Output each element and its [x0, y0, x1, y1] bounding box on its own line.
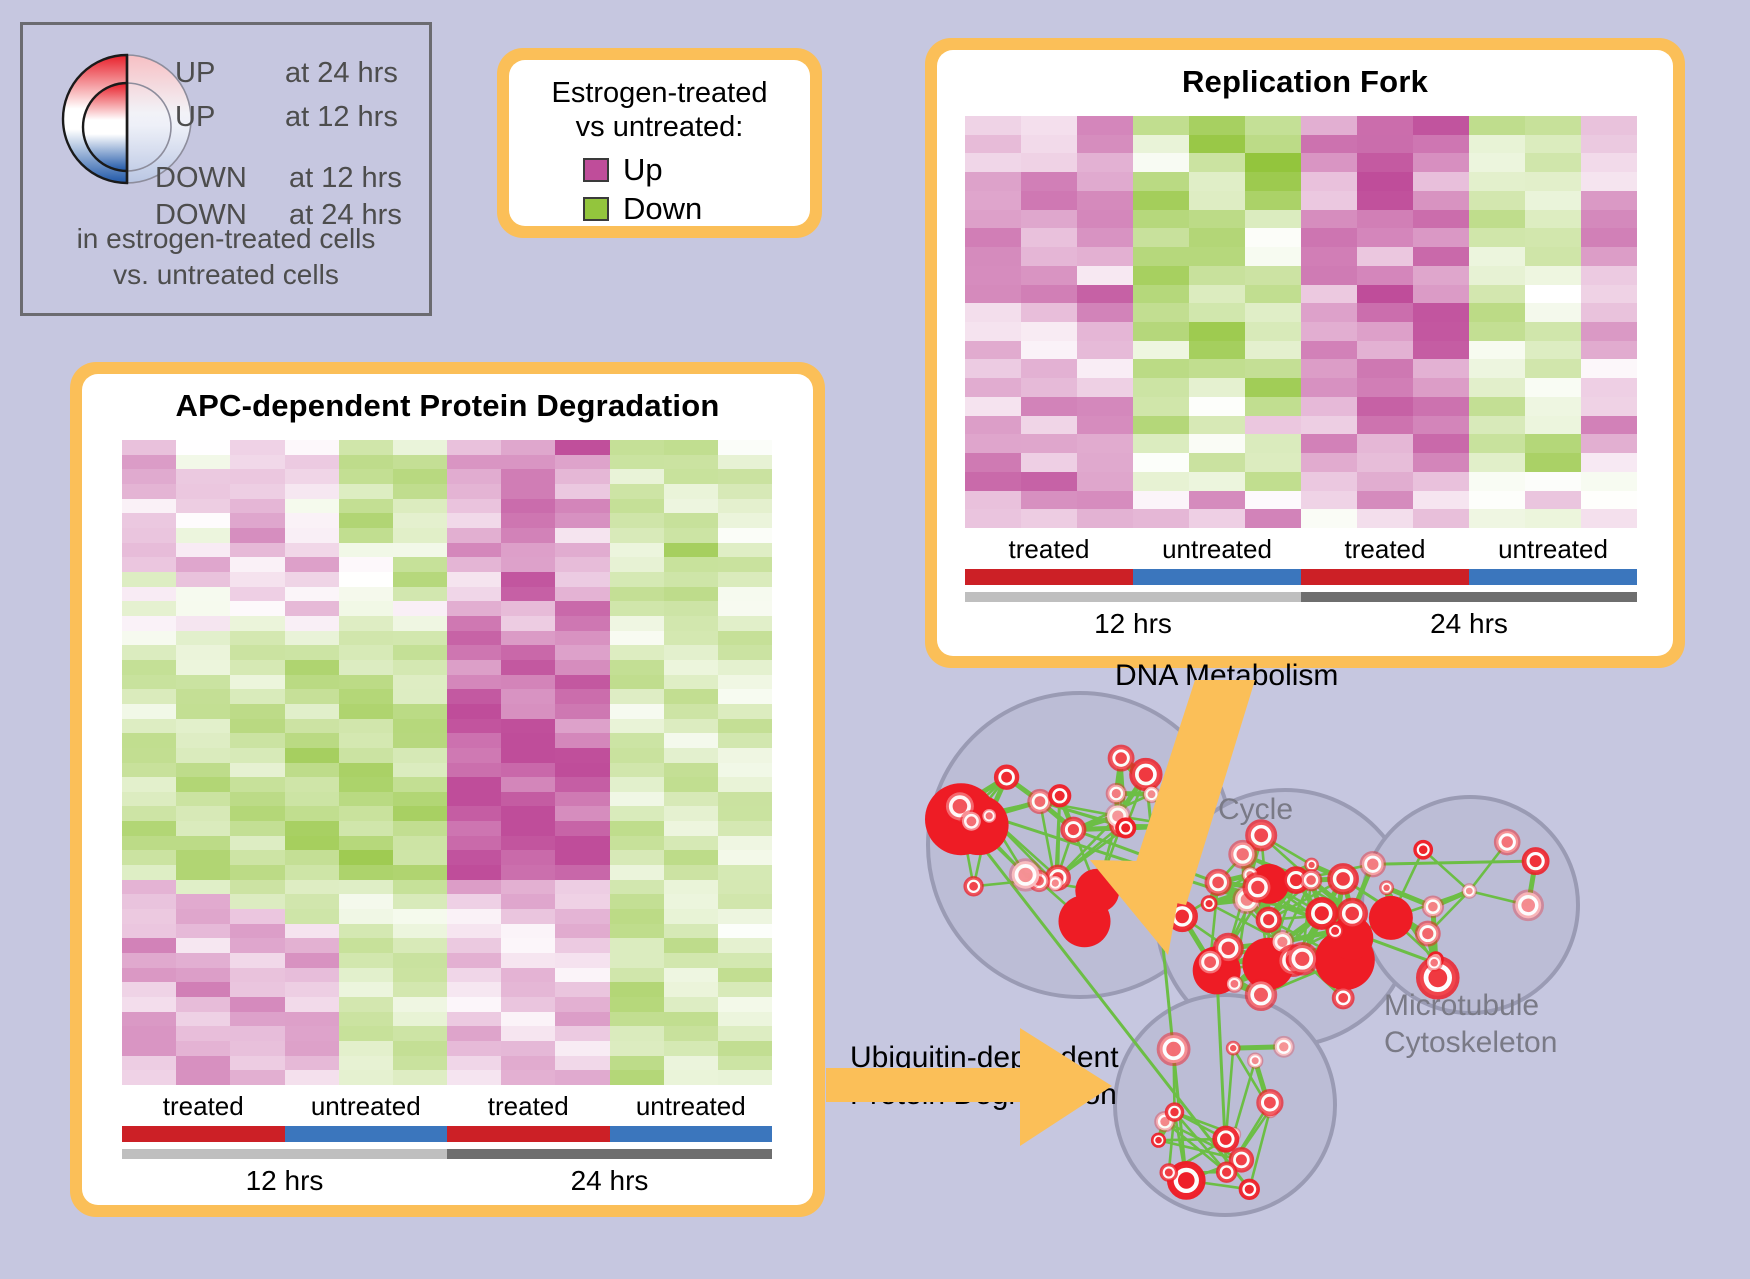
heatmap-cell [1581, 453, 1637, 472]
heatmap-cell [1245, 322, 1301, 341]
heatmap-cell [610, 836, 664, 851]
heatmap-cell [1525, 191, 1581, 210]
heatmap-cell [1357, 172, 1413, 191]
heatmap-cell [447, 543, 501, 558]
heatmap-cell [718, 645, 772, 660]
heatmap-cell [664, 543, 718, 558]
estrogen-legend-title: Estrogen-treated vs untreated: [519, 76, 800, 144]
heatmap-cell [447, 792, 501, 807]
heatmap-cell [610, 909, 664, 924]
heatmap-cell [230, 543, 284, 558]
network-node[interactable] [1075, 869, 1119, 913]
heatmap-cell [501, 587, 555, 602]
heatmap-cell [501, 499, 555, 514]
heatmap-cell [610, 601, 664, 616]
heatmap-cell [718, 1026, 772, 1041]
heatmap-cell [610, 557, 664, 572]
heatmap-cell [1357, 472, 1413, 491]
heatmap-cell [122, 543, 176, 558]
heatmap-cell [718, 982, 772, 997]
heatmap-cell [285, 792, 339, 807]
heatmap-cell [1077, 285, 1133, 304]
network-node-core [1220, 1133, 1232, 1145]
heatmap-cell [122, 894, 176, 909]
apc-degradation-heatmap [122, 440, 772, 1085]
heatmap-cell [664, 880, 718, 895]
heatmap-cell [555, 528, 609, 543]
heatmap-cell [664, 616, 718, 631]
heatmap-cell [176, 997, 230, 1012]
heatmap-cell [339, 572, 393, 587]
heatmap-cell [230, 792, 284, 807]
heatmap-cell [965, 416, 1021, 435]
heatmap-cell [230, 968, 284, 983]
heatmap-cell [1469, 303, 1525, 322]
heatmap-cell [1021, 491, 1077, 510]
heatmap-cell [501, 806, 555, 821]
heatmap-cell [176, 909, 230, 924]
heatmap-cell [230, 806, 284, 821]
heatmap-cell [1245, 509, 1301, 528]
heatmap-cell [339, 631, 393, 646]
heatmap-cell [965, 116, 1021, 135]
apc-label-treated-24: treated [447, 1091, 610, 1122]
heatmap-cell [447, 924, 501, 939]
heatmap-cell [1413, 135, 1469, 154]
network-node-core [1530, 855, 1542, 867]
heatmap-cell [1581, 247, 1637, 266]
heatmap-cell [1581, 378, 1637, 397]
heatmap-cell [501, 821, 555, 836]
heatmap-cell [555, 850, 609, 865]
network-label-ubiquitin: Ubiquitin-dependent Protein Degradation [850, 1040, 1119, 1113]
heatmap-cell [555, 953, 609, 968]
heatmap-cell [176, 601, 230, 616]
heatmap-cell [1469, 322, 1525, 341]
heatmap-cell [718, 484, 772, 499]
heatmap-cell [122, 557, 176, 572]
heatmap-cell [610, 953, 664, 968]
heatmap-cell [1077, 247, 1133, 266]
heatmap-cell [610, 924, 664, 939]
heatmap-cell [965, 359, 1021, 378]
heatmap-cell [1189, 228, 1245, 247]
heatmap-cell [1357, 453, 1413, 472]
heatmap-cell [555, 1041, 609, 1056]
rf-bar-treated-12 [965, 569, 1133, 585]
heatmap-cell [501, 455, 555, 470]
heatmap-cell [122, 821, 176, 836]
heatmap-cell [610, 1070, 664, 1085]
heatmap-cell [285, 689, 339, 704]
heatmap-cell [285, 850, 339, 865]
network-node[interactable] [1369, 896, 1413, 940]
heatmap-cell [1581, 341, 1637, 360]
heatmap-cell [1525, 322, 1581, 341]
heatmap-cell [230, 469, 284, 484]
network-node-core [1383, 885, 1389, 891]
heatmap-cell [501, 924, 555, 939]
heatmap-cell [1413, 453, 1469, 472]
heatmap-cell [447, 704, 501, 719]
heatmap-cell [230, 763, 284, 778]
heatmap-cell [176, 806, 230, 821]
heatmap-cell [285, 601, 339, 616]
heatmap-cell [285, 894, 339, 909]
heatmap-cell [1357, 491, 1413, 510]
heatmap-cell [1077, 210, 1133, 229]
replication-fork-footer: treated untreated treated untreated 12 h [965, 534, 1637, 640]
heatmap-cell [122, 733, 176, 748]
heatmap-cell [1245, 135, 1301, 154]
heatmap-cell [393, 1012, 447, 1027]
heatmap-cell [285, 719, 339, 734]
heatmap-cell [447, 440, 501, 455]
heatmap-cell [1413, 509, 1469, 528]
network-label-microtubule: Microtubule Cytoskeleton [1384, 988, 1557, 1061]
heatmap-cell [122, 806, 176, 821]
heatmap-cell [1133, 210, 1189, 229]
heatmap-cell [965, 285, 1021, 304]
heatmap-cell [555, 1070, 609, 1085]
heatmap-cell [501, 719, 555, 734]
network-node-core [1001, 772, 1012, 783]
heatmap-cell [1189, 153, 1245, 172]
heatmap-cell [610, 777, 664, 792]
heatmap-cell [176, 543, 230, 558]
heatmap-cell [501, 1056, 555, 1071]
heatmap-cell [718, 631, 772, 646]
heatmap-cell [1077, 303, 1133, 322]
heatmap-cell [1189, 116, 1245, 135]
heatmap-cell [501, 704, 555, 719]
heatmap-cell [610, 733, 664, 748]
heatmap-cell [1133, 416, 1189, 435]
heatmap-cell [447, 616, 501, 631]
heatmap-cell [664, 792, 718, 807]
heatmap-cell [555, 982, 609, 997]
heatmap-cell [1469, 397, 1525, 416]
heatmap-cell [1525, 266, 1581, 285]
heatmap-cell [1245, 472, 1301, 491]
heatmap-cell [555, 513, 609, 528]
heatmap-cell [1189, 397, 1245, 416]
heatmap-cell [393, 997, 447, 1012]
heatmap-cell [1581, 359, 1637, 378]
heatmap-cell [1301, 135, 1357, 154]
heatmap-cell [393, 733, 447, 748]
rf-time-labels: 12 hrs 24 hrs [965, 608, 1637, 640]
heatmap-cell [176, 792, 230, 807]
heatmap-cell [1245, 397, 1301, 416]
heatmap-cell [501, 616, 555, 631]
heatmap-cell [285, 982, 339, 997]
network-node-core [1245, 1185, 1254, 1194]
heatmap-cell [1133, 266, 1189, 285]
heatmap-cell [965, 341, 1021, 360]
heatmap-cell [1301, 378, 1357, 397]
heatmap-cell [176, 631, 230, 646]
heatmap-cell [718, 733, 772, 748]
heatmap-cell [610, 968, 664, 983]
heatmap-cell [1469, 266, 1525, 285]
network-node-core [1206, 900, 1213, 907]
heatmap-cell [664, 1056, 718, 1071]
heatmap-cell [1245, 359, 1301, 378]
heatmap-cell [230, 499, 284, 514]
heatmap-cell [1077, 322, 1133, 341]
heatmap-cell [122, 675, 176, 690]
heatmap-cell [501, 836, 555, 851]
heatmap-cell [122, 499, 176, 514]
heatmap-cell [122, 982, 176, 997]
apc-degradation-title: APC-dependent Protein Degradation [82, 374, 813, 424]
heatmap-cell [1077, 416, 1133, 435]
legend-item-up: Up [583, 152, 800, 188]
heatmap-cell [447, 645, 501, 660]
heatmap-cell [1133, 285, 1189, 304]
heatmap-cell [176, 953, 230, 968]
replication-fork-title: Replication Fork [937, 50, 1673, 100]
heatmap-cell [393, 748, 447, 763]
heatmap-cell [1581, 266, 1637, 285]
heatmap-cell [1357, 303, 1413, 322]
legend-footer-line-1: in estrogen-treated cells [23, 221, 429, 257]
heatmap-cell [718, 616, 772, 631]
heatmap-cell [718, 587, 772, 602]
heatmap-cell [555, 763, 609, 778]
heatmap-cell [664, 997, 718, 1012]
heatmap-cell [1245, 116, 1301, 135]
heatmap-cell [447, 806, 501, 821]
heatmap-cell [339, 484, 393, 499]
heatmap-cell [176, 938, 230, 953]
network-node-core [1035, 796, 1046, 807]
heatmap-cell [610, 938, 664, 953]
heatmap-cell [122, 601, 176, 616]
heatmap-cell [555, 924, 609, 939]
heatmap-cell [393, 806, 447, 821]
heatmap-cell [122, 616, 176, 631]
heatmap-cell [1469, 116, 1525, 135]
heatmap-cell [1413, 359, 1469, 378]
heatmap-cell [393, 440, 447, 455]
heatmap-cell [1525, 434, 1581, 453]
heatmap-cell [1357, 210, 1413, 229]
heatmap-cell [501, 645, 555, 660]
rf-bar-untreated-24 [1469, 569, 1637, 585]
heatmap-cell [285, 557, 339, 572]
heatmap-cell [664, 806, 718, 821]
heatmap-cell [1525, 228, 1581, 247]
network-node-core [1237, 848, 1249, 860]
heatmap-cell [447, 513, 501, 528]
heatmap-cell [718, 455, 772, 470]
heatmap-cell [447, 499, 501, 514]
heatmap-cell [230, 997, 284, 1012]
heatmap-cell [230, 675, 284, 690]
heatmap-cell [1413, 247, 1469, 266]
heatmap-cell [122, 572, 176, 587]
heatmap-cell [555, 748, 609, 763]
heatmap-cell [176, 1041, 230, 1056]
heatmap-cell [230, 880, 284, 895]
estrogen-legend-panel: Estrogen-treated vs untreated: Up Down [497, 48, 822, 238]
heatmap-cell [1413, 172, 1469, 191]
network-node-core [1254, 828, 1268, 842]
heatmap-cell [501, 968, 555, 983]
heatmap-cell [122, 865, 176, 880]
heatmap-cell [718, 572, 772, 587]
heatmap-cell [122, 440, 176, 455]
apc-time-labels: 12 hrs 24 hrs [122, 1165, 772, 1197]
heatmap-cell [285, 748, 339, 763]
network-node-core [953, 799, 968, 814]
heatmap-cell [447, 836, 501, 851]
heatmap-cell [1021, 153, 1077, 172]
heatmap-cell [285, 543, 339, 558]
heatmap-cell [447, 850, 501, 865]
heatmap-cell [447, 631, 501, 646]
heatmap-cell [1133, 472, 1189, 491]
heatmap-cell [501, 880, 555, 895]
heatmap-cell [285, 777, 339, 792]
heatmap-cell [1301, 341, 1357, 360]
heatmap-cell [285, 528, 339, 543]
heatmap-cell [1525, 378, 1581, 397]
heatmap-cell [447, 880, 501, 895]
heatmap-cell [122, 1012, 176, 1027]
rf-bar-untreated-12 [1133, 569, 1301, 585]
heatmap-cell [1189, 172, 1245, 191]
heatmap-cell [1413, 153, 1469, 172]
heatmap-cell [610, 997, 664, 1012]
heatmap-cell [1021, 378, 1077, 397]
network-node-core [1279, 1042, 1288, 1051]
heatmap-cell [664, 909, 718, 924]
heatmap-cell [664, 704, 718, 719]
heatmap-cell [1469, 153, 1525, 172]
heatmap-cell [1469, 378, 1525, 397]
heatmap-cell [1357, 116, 1413, 135]
heatmap-cell [555, 777, 609, 792]
heatmap-cell [339, 616, 393, 631]
heatmap-cell [610, 865, 664, 880]
heatmap-cell [122, 1041, 176, 1056]
heatmap-cell [610, 704, 664, 719]
network-node-core [1212, 877, 1224, 889]
heatmap-cell [122, 836, 176, 851]
heatmap-cell [176, 645, 230, 660]
heatmap-cell [1189, 191, 1245, 210]
heatmap-cell [664, 982, 718, 997]
heatmap-cell [1021, 116, 1077, 135]
heatmap-cell [1245, 303, 1301, 322]
heatmap-cell [285, 513, 339, 528]
heatmap-cell [339, 557, 393, 572]
apc-bar-untreated-24 [610, 1126, 773, 1142]
heatmap-cell [718, 894, 772, 909]
heatmap-cell [1021, 322, 1077, 341]
network-node-core [1315, 906, 1329, 920]
heatmap-cell [176, 865, 230, 880]
heatmap-cell [965, 303, 1021, 322]
heatmap-cell [501, 894, 555, 909]
heatmap-cell [1301, 191, 1357, 210]
heatmap-cell [393, 660, 447, 675]
legend-at-24-top: at 24 hrs [285, 57, 398, 90]
heatmap-cell [122, 1056, 176, 1071]
heatmap-cell [1021, 303, 1077, 322]
heatmap-cell [965, 266, 1021, 285]
heatmap-cell [1357, 153, 1413, 172]
heatmap-cell [447, 601, 501, 616]
heatmap-cell [1021, 397, 1077, 416]
network-node-core [1502, 836, 1513, 847]
heatmap-cell [1469, 472, 1525, 491]
heatmap-cell [1357, 397, 1413, 416]
heatmap-cell [176, 733, 230, 748]
network-node-core [1230, 1045, 1236, 1051]
heatmap-cell [230, 821, 284, 836]
heatmap-cell [1525, 491, 1581, 510]
heatmap-cell [1245, 378, 1301, 397]
heatmap-cell [555, 865, 609, 880]
heatmap-cell [718, 748, 772, 763]
heatmap-cell [664, 865, 718, 880]
heatmap-cell [1245, 416, 1301, 435]
rf-condition-labels: treated untreated treated untreated [965, 534, 1637, 565]
apc-label-treated-12: treated [122, 1091, 285, 1122]
heatmap-cell [1357, 322, 1413, 341]
heatmap-cell [1413, 472, 1469, 491]
heatmap-cell [1077, 191, 1133, 210]
heatmap-cell [393, 1041, 447, 1056]
heatmap-cell [1021, 191, 1077, 210]
heatmap-cell [610, 484, 664, 499]
network-node-core [1204, 956, 1216, 968]
heatmap-cell [718, 880, 772, 895]
heatmap-cell [122, 645, 176, 660]
heatmap-cell [1301, 472, 1357, 491]
heatmap-cell [122, 719, 176, 734]
heatmap-cell [1021, 472, 1077, 491]
heatmap-cell [610, 528, 664, 543]
heatmap-cell [339, 982, 393, 997]
heatmap-cell [718, 1070, 772, 1085]
network-node-core [969, 882, 978, 891]
heatmap-cell [230, 924, 284, 939]
heatmap-cell [610, 880, 664, 895]
heatmap-cell [176, 484, 230, 499]
heatmap-cell [339, 513, 393, 528]
heatmap-cell [285, 733, 339, 748]
heatmap-cell [122, 513, 176, 528]
heatmap-cell [501, 938, 555, 953]
heatmap-cell [1077, 172, 1133, 191]
heatmap-cell [1581, 397, 1637, 416]
heatmap-cell [965, 509, 1021, 528]
heatmap-cell [664, 733, 718, 748]
heatmap-cell [393, 587, 447, 602]
heatmap-cell [447, 587, 501, 602]
heatmap-cell [501, 543, 555, 558]
heatmap-cell [1357, 191, 1413, 210]
heatmap-cell [176, 469, 230, 484]
heatmap-cell [393, 719, 447, 734]
heatmap-cell [501, 469, 555, 484]
heatmap-cell [610, 572, 664, 587]
